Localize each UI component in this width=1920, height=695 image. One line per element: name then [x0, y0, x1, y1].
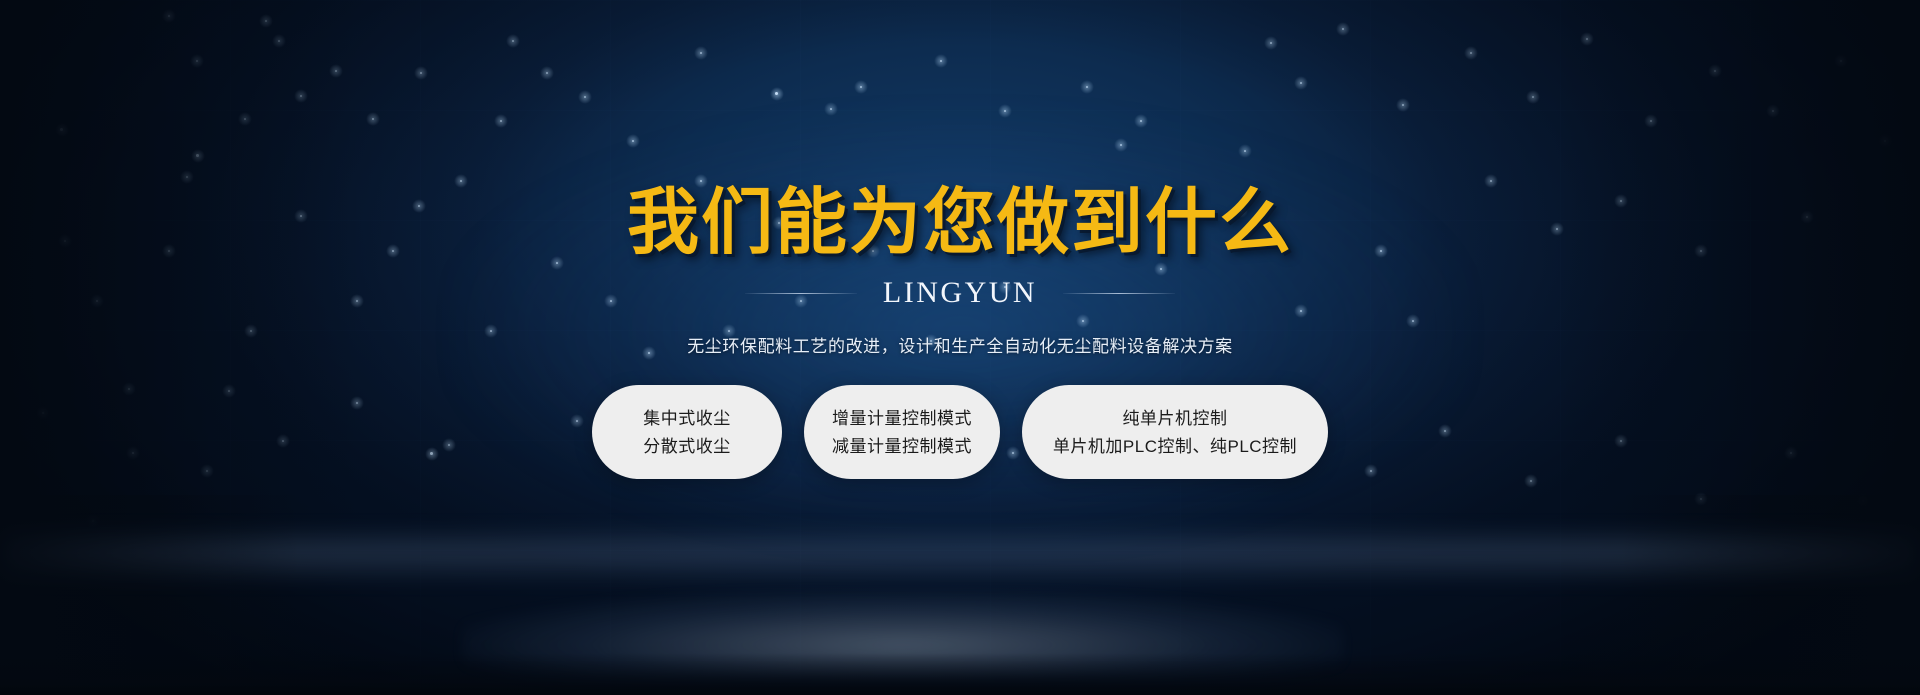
- wave-bottom-fade: [0, 653, 1920, 695]
- divider-line-left: [745, 293, 857, 294]
- pill-line-1: 纯单片机控制: [1123, 410, 1228, 427]
- pill-line-2: 单片机加PLC控制、纯PLC控制: [1053, 438, 1297, 455]
- page-title: 我们能为您做到什么: [627, 186, 1293, 258]
- divider-line-right: [1063, 293, 1175, 294]
- feature-pill-metering-mode[interactable]: 增量计量控制模式 减量计量控制模式: [804, 385, 1000, 479]
- feature-pill-list: 集中式收尘 分散式收尘 增量计量控制模式 减量计量控制模式 纯单片机控制 单片机…: [592, 385, 1328, 479]
- hero-banner: 我们能为您做到什么 LINGYUN 无尘环保配料工艺的改进，设计和生产全自动化无…: [0, 0, 1920, 695]
- subtitle-row: LINGYUN: [745, 276, 1175, 310]
- pill-line-2: 分散式收尘: [643, 438, 731, 455]
- pill-line-2: 减量计量控制模式: [832, 438, 972, 455]
- pill-line-1: 增量计量控制模式: [832, 410, 972, 427]
- feature-pill-control-system[interactable]: 纯单片机控制 单片机加PLC控制、纯PLC控制: [1022, 385, 1328, 479]
- banner-description: 无尘环保配料工艺的改进，设计和生产全自动化无尘配料设备解决方案: [687, 332, 1233, 357]
- pill-line-1: 集中式收尘: [643, 410, 731, 427]
- feature-pill-dust-collection[interactable]: 集中式收尘 分散式收尘: [592, 385, 782, 479]
- brand-name: LINGYUN: [883, 276, 1037, 310]
- banner-content: 我们能为您做到什么 LINGYUN 无尘环保配料工艺的改进，设计和生产全自动化无…: [0, 0, 1920, 479]
- dot-grid-wave: [0, 495, 1920, 695]
